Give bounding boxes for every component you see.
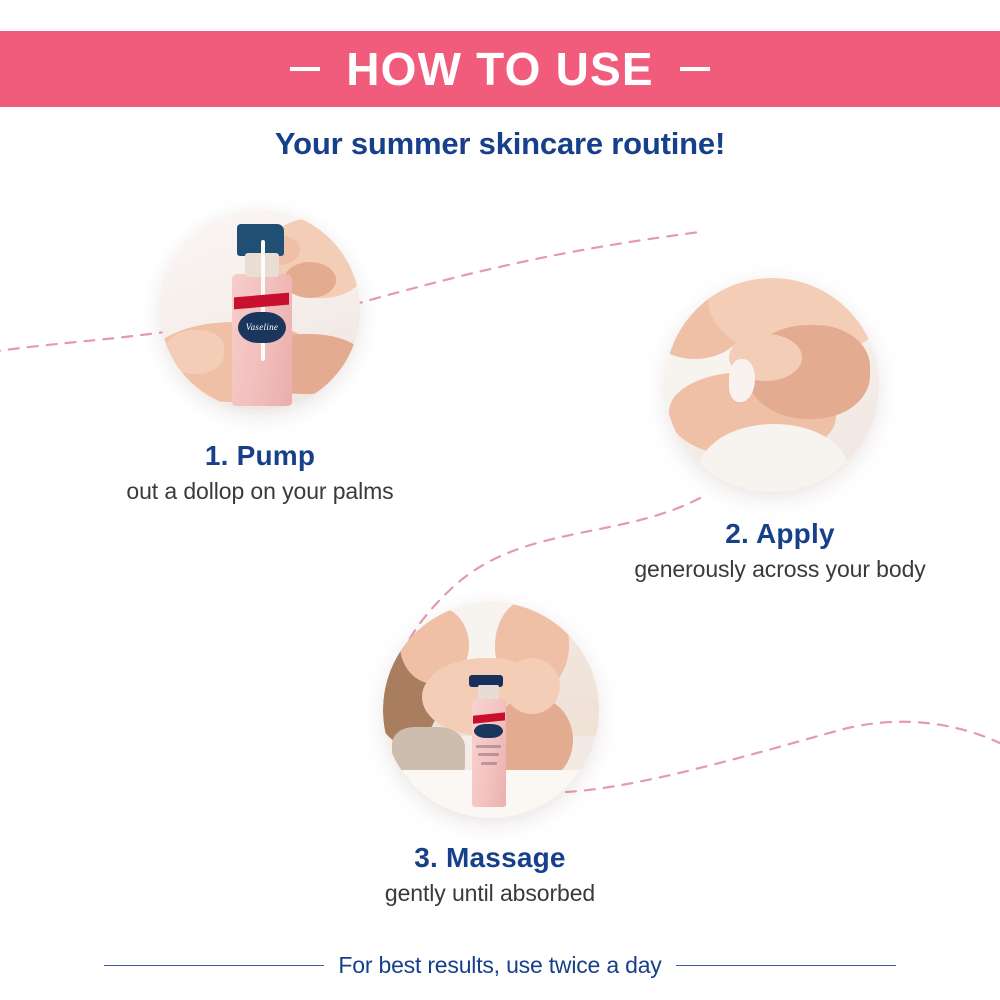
- banner-dash-left-icon: [290, 67, 320, 71]
- bottle-text-line-1: [476, 745, 501, 748]
- lotion-bottle: Vaseline: [232, 274, 292, 406]
- dashed-path-step3-to-right: [566, 722, 1000, 792]
- footer-text: For best results, use twice a day: [338, 952, 661, 979]
- bottle-text-line-3: [481, 762, 498, 765]
- footer-rule-right: [676, 965, 896, 966]
- step-1-caption: 1. Pump out a dollop on your palms: [60, 440, 460, 507]
- footer: For best results, use twice a day: [0, 952, 1000, 979]
- step-2-caption: 2. Apply generously across your body: [575, 518, 985, 585]
- header-banner: HOW TO USE: [0, 31, 1000, 107]
- bottle-red-band: [473, 713, 505, 724]
- step-2-photo: [665, 278, 879, 492]
- bottle-text-line-2: [478, 753, 499, 756]
- bottle-cap: [478, 685, 499, 699]
- dashed-path-step1-to-step2: [352, 232, 700, 305]
- subtitle: Your summer skincare routine!: [0, 126, 1000, 162]
- banner-title: HOW TO USE: [346, 46, 654, 92]
- step-1-photo: Vaseline: [160, 210, 360, 410]
- banner-dash-right-icon: [680, 67, 710, 71]
- bottle-brand-label: Vaseline: [246, 322, 278, 332]
- lotion-bottle: [472, 699, 507, 807]
- step-3-title: 3. Massage: [290, 842, 690, 874]
- step-3-photo-inner: [383, 602, 599, 818]
- bottle-brand-logo: [474, 724, 503, 738]
- step-1-title: 1. Pump: [60, 440, 460, 472]
- footer-rule-left: [104, 965, 324, 966]
- step-3-photo: [383, 602, 599, 818]
- thumb-shape: [164, 330, 224, 374]
- step-1-description: out a dollop on your palms: [60, 477, 460, 507]
- step-2-photo-inner: [665, 278, 879, 492]
- step-1-photo-inner: Vaseline: [160, 210, 360, 410]
- step-3-description: gently until absorbed: [290, 879, 690, 909]
- step-3-caption: 3. Massage gently until absorbed: [290, 842, 690, 909]
- step-2-description: generously across your body: [575, 555, 985, 585]
- bottle-brand-logo: Vaseline: [238, 312, 286, 342]
- hand-shape: [504, 658, 560, 714]
- step-2-title: 2. Apply: [575, 518, 985, 550]
- how-to-use-infographic: HOW TO USE Your summer skincare routine!…: [0, 0, 1000, 1000]
